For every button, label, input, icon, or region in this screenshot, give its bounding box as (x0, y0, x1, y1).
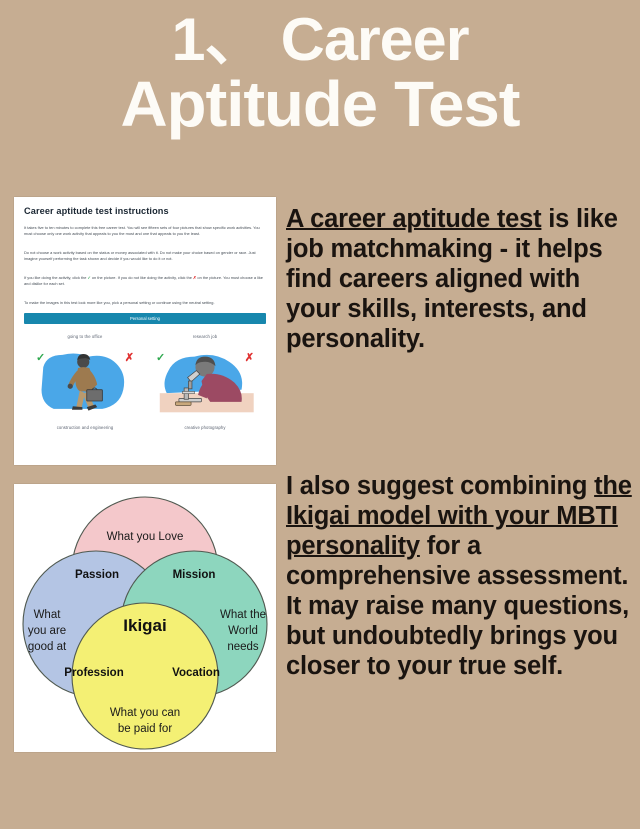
ikigai-venn-diagram: What you Love What you are good at What … (14, 484, 276, 752)
body-2-lead: I also suggest combining (286, 472, 594, 500)
venn-label-profession: Profession (64, 667, 123, 679)
panel-top-label: going to the office (28, 334, 142, 339)
check-icon: ✓ (88, 275, 91, 280)
venn-label-world-needs-2: World (228, 625, 258, 637)
cross-icon: ✗ (193, 275, 196, 280)
page-title: 1、 Career Aptitude Test (0, 8, 640, 138)
panel-bottom-label: creative photography (148, 425, 262, 430)
page-title-line-1: 1、 Career (0, 8, 640, 71)
venn-label-world-needs-3: needs (227, 641, 259, 653)
check-icon[interactable]: ✓ (36, 353, 45, 364)
venn-label-paid-for-2: be paid for (118, 723, 173, 735)
instructions-paragraph-2: Do not choose a work activity based on t… (24, 250, 266, 262)
instructions-card: Career aptitude test instructions It tak… (14, 197, 276, 465)
venn-label-passion: Passion (75, 569, 119, 581)
venn-label-paid-for-1: What you can (110, 707, 180, 719)
venn-label-mission: Mission (173, 569, 216, 581)
illustration-panel-office[interactable]: going to the office (28, 334, 142, 430)
venn-label-good-at-3: good at (28, 641, 67, 653)
check-icon[interactable]: ✓ (156, 353, 165, 364)
ikigai-card: What you Love What you are good at What … (14, 484, 276, 752)
illustration-panel-research[interactable]: research job (148, 334, 262, 430)
venn-label-vocation: Vocation (172, 667, 220, 679)
venn-label-world-needs-1: What the (220, 609, 266, 621)
venn-label-good-at-1: What (34, 609, 62, 621)
body-paragraph-1: A career aptitude test is like job match… (286, 205, 634, 355)
venn-label-good-at-2: you are (28, 625, 66, 637)
panel-top-label: research job (148, 334, 262, 339)
cross-icon[interactable]: ✗ (125, 353, 134, 364)
venn-label-ikigai-center: Ikigai (123, 616, 166, 635)
cross-icon[interactable]: ✗ (245, 353, 254, 364)
instructions-p3-part2: on the picture. If you do not like doing… (92, 275, 192, 280)
instructions-paragraph-4: To make the images in this test look mor… (24, 300, 266, 306)
instructions-heading: Career aptitude test instructions (24, 206, 266, 216)
panel-artwork-research: ✓ ✗ (148, 341, 262, 421)
venn-label-love: What you Love (107, 531, 184, 543)
body-1-underlined: A career aptitude test (286, 205, 541, 233)
instructions-paragraph-1: It takes five to ten minutes to complete… (24, 225, 266, 237)
page-title-line-2: Aptitude Test (0, 71, 640, 138)
personal-setting-button[interactable]: Personal setting (24, 313, 266, 324)
illustration-panels: going to the office (24, 334, 266, 430)
instructions-p3-part1: If you like doing the activity, click th… (24, 275, 86, 280)
instructions-paragraph-3: If you like doing the activity, click th… (24, 275, 266, 287)
body-paragraph-2: I also suggest combining the Ikigai mode… (286, 472, 634, 682)
panel-bottom-label: construction and engineering (28, 425, 142, 430)
panel-artwork-office: ✓ ✗ (28, 341, 142, 421)
